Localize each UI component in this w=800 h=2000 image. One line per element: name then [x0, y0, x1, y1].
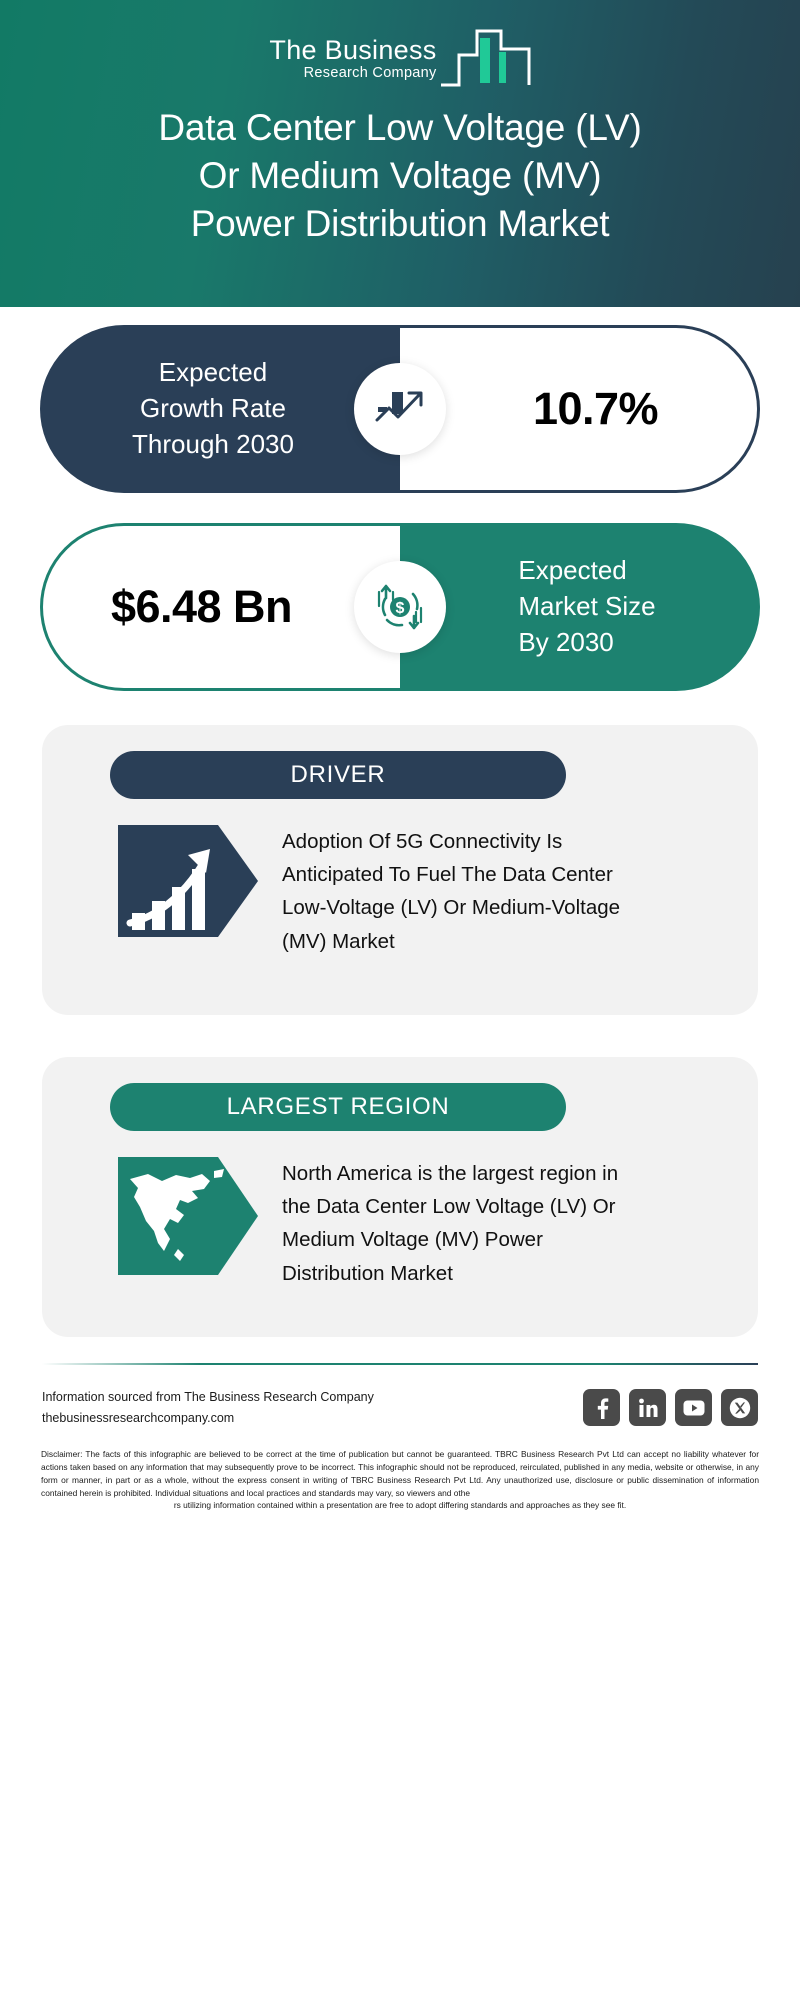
logo-line-1: The Business	[269, 37, 436, 64]
largest-region-body: North America is the largest region in t…	[42, 1157, 758, 1290]
largest-region-text: North America is the largest region in t…	[282, 1157, 622, 1290]
social-links	[583, 1389, 758, 1426]
largest-region-panel: LARGEST REGION North America is the larg…	[42, 1057, 758, 1337]
footer-source: Information sourced from The Business Re…	[42, 1387, 374, 1428]
growth-rate-label-line-3: Through 2030	[132, 427, 294, 463]
market-size-value-block: $6.48 Bn	[40, 523, 400, 691]
growth-rate-label-block: Expected Growth Rate Through 2030	[40, 325, 400, 493]
x-twitter-icon[interactable]	[721, 1389, 758, 1426]
dollar-cycle-icon: $	[372, 579, 428, 635]
driver-text: Adoption Of 5G Connectivity Is Anticipat…	[282, 825, 622, 958]
market-size-label: Expected Market Size By 2030	[484, 553, 675, 661]
youtube-icon[interactable]	[675, 1389, 712, 1426]
growth-rate-value-block: 10.7%	[400, 325, 760, 493]
page-title-line-3: Power Distribution Market	[80, 200, 720, 248]
disclaimer-last-line: rs utilizing information contained withi…	[41, 1499, 759, 1512]
driver-body: Adoption Of 5G Connectivity Is Anticipat…	[42, 825, 758, 958]
facebook-icon[interactable]	[583, 1389, 620, 1426]
x-glyph	[729, 1397, 751, 1419]
disclaimer-text: Disclaimer: The facts of this infographi…	[41, 1448, 759, 1512]
growth-chart-icon	[373, 384, 427, 434]
footer-source-url[interactable]: thebusinessresearchcompany.com	[42, 1408, 374, 1429]
footer-source-line-1: Information sourced from The Business Re…	[42, 1387, 374, 1408]
linkedin-glyph	[637, 1397, 659, 1419]
growth-rate-label-line-1: Expected	[132, 355, 294, 391]
logo-wordmark: The Business Research Company	[269, 37, 436, 90]
disclaimer-main: Disclaimer: The facts of this infographi…	[41, 1449, 759, 1497]
logo-bar-chart-icon	[439, 21, 531, 89]
page-title-line-1: Data Center Low Voltage (LV)	[80, 104, 720, 152]
growth-rate-value: 10.7%	[499, 383, 658, 435]
growth-rate-label: Expected Growth Rate Through 2030	[112, 355, 328, 463]
market-size-label-line-2: Market Size	[518, 589, 655, 625]
driver-icon-shape	[118, 825, 258, 937]
footer-row: Information sourced from The Business Re…	[42, 1387, 758, 1428]
market-size-value: $6.48 Bn	[111, 581, 332, 633]
youtube-glyph	[682, 1399, 706, 1417]
company-logo: The Business Research Company	[269, 20, 530, 90]
market-size-badge: $	[354, 561, 446, 653]
driver-pill: DRIVER	[110, 751, 566, 799]
footer-divider	[42, 1363, 758, 1365]
largest-region-pill-label: LARGEST REGION	[227, 1093, 450, 1121]
driver-panel: DRIVER Adoption Of 5G Connectivity Is An…	[42, 725, 758, 1015]
stat-cards-band: Expected Growth Rate Through 2030 10.7% …	[0, 325, 800, 691]
market-size-label-block: Expected Market Size By 2030	[400, 523, 760, 691]
driver-pill-label: DRIVER	[291, 761, 386, 789]
largest-region-pill: LARGEST REGION	[110, 1083, 566, 1131]
svg-text:$: $	[396, 600, 405, 617]
market-size-label-line-1: Expected	[518, 553, 655, 589]
page-title: Data Center Low Voltage (LV) Or Medium V…	[80, 104, 720, 248]
page-title-line-2: Or Medium Voltage (MV)	[80, 152, 720, 200]
facebook-glyph	[592, 1397, 612, 1419]
stat-card-market-size: $6.48 Bn Expected Market Size By 2030 $	[40, 523, 760, 691]
market-size-label-line-3: By 2030	[518, 625, 655, 661]
north-america-map-icon	[118, 1157, 258, 1275]
header-banner: The Business Research Company Data Cente…	[0, 0, 800, 307]
stat-card-growth-rate: Expected Growth Rate Through 2030 10.7%	[40, 325, 760, 493]
region-icon-shape	[118, 1157, 258, 1275]
linkedin-icon[interactable]	[629, 1389, 666, 1426]
growth-arrow-bars-icon	[118, 825, 258, 937]
logo-line-2: Research Company	[304, 64, 437, 84]
growth-rate-label-line-2: Growth Rate	[132, 391, 294, 427]
growth-rate-badge	[354, 363, 446, 455]
